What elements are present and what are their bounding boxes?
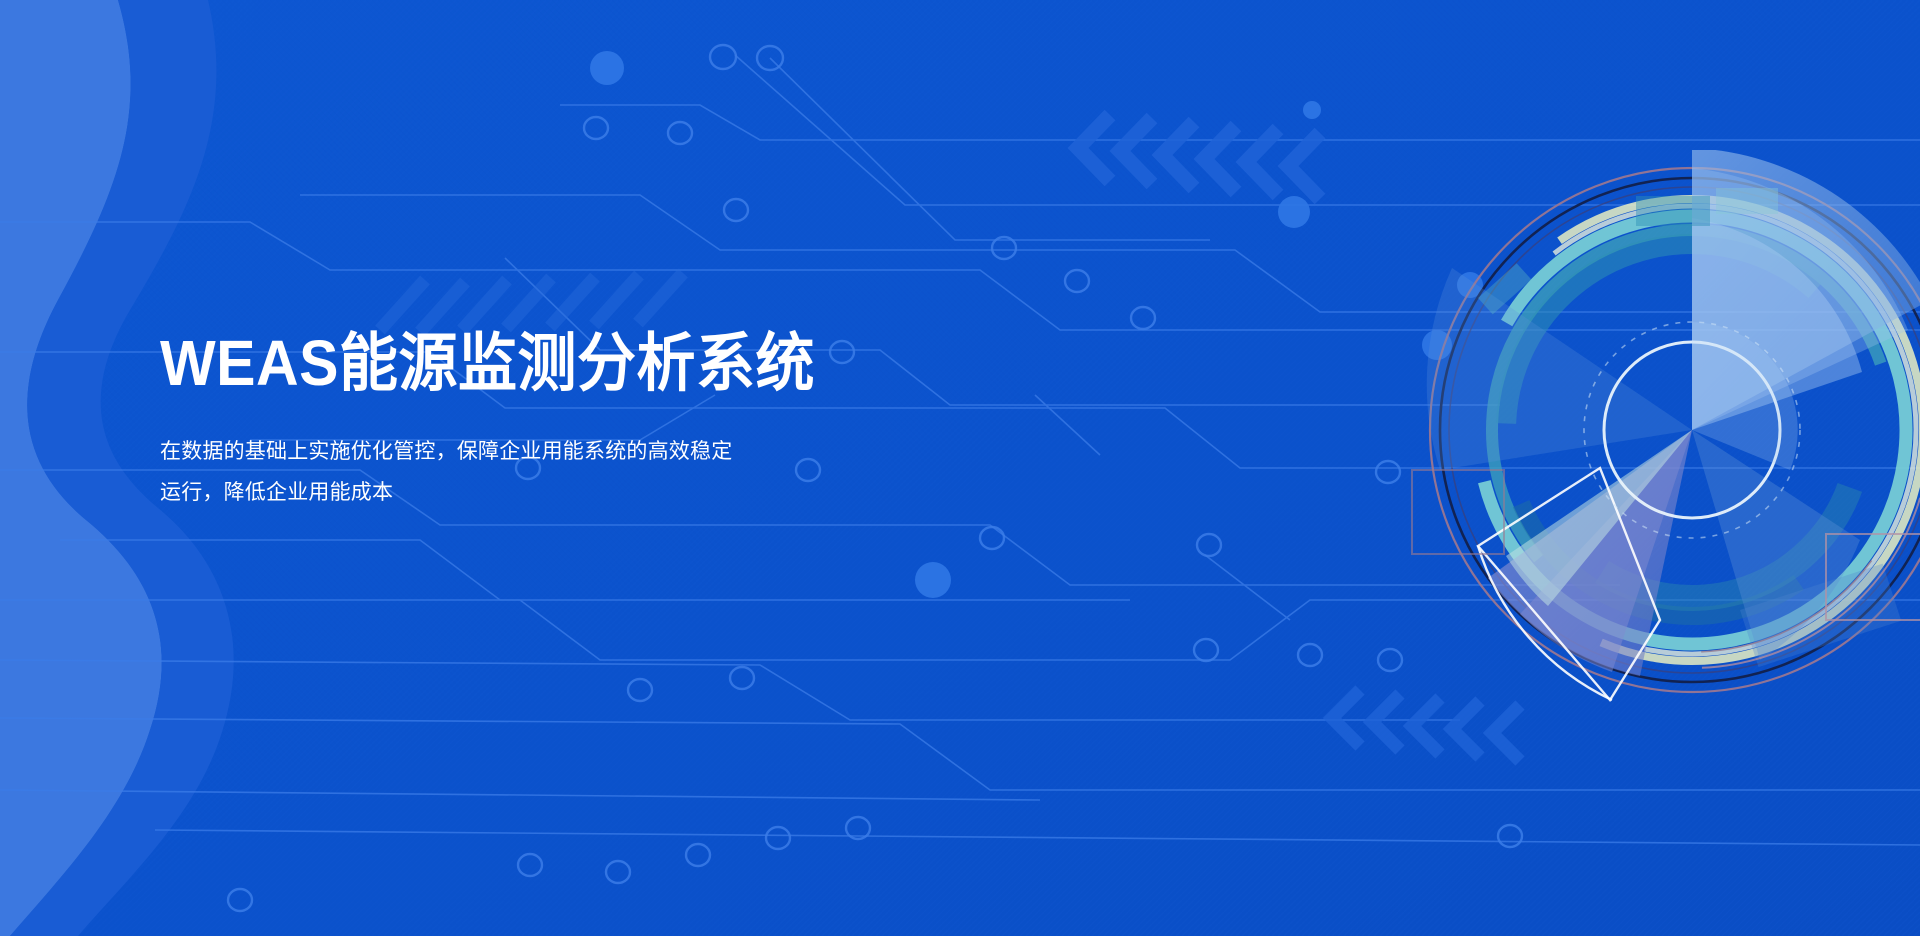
hero-text-block: WEAS能源监测分析系统 在数据的基础上实施优化管控，保障企业用能系统的高效稳定… <box>160 330 920 513</box>
chevron-cluster-bottom <box>1332 690 1520 761</box>
chevron-cluster-top <box>1078 115 1320 199</box>
circuit-node-dot <box>590 51 1483 598</box>
ring-sector-violet <box>1488 430 1692 676</box>
ring-inner-circle <box>1604 342 1780 518</box>
page-subtitle: 在数据的基础上实施优化管控，保障企业用能系统的高效稳定运行，降低企业用能成本 <box>160 393 736 513</box>
ring-assembly <box>1370 108 1920 751</box>
ring-sector-topright <box>1692 148 1920 430</box>
hero-banner: WEAS能源监测分析系统 在数据的基础上实施优化管控，保障企业用能系统的高效稳定… <box>0 0 1920 936</box>
ring-outline-segment <box>1478 468 1660 700</box>
wave-light-shape <box>0 0 162 936</box>
ring-sector-left <box>1427 268 1692 470</box>
page-title: WEAS能源监测分析系统 <box>160 330 920 398</box>
